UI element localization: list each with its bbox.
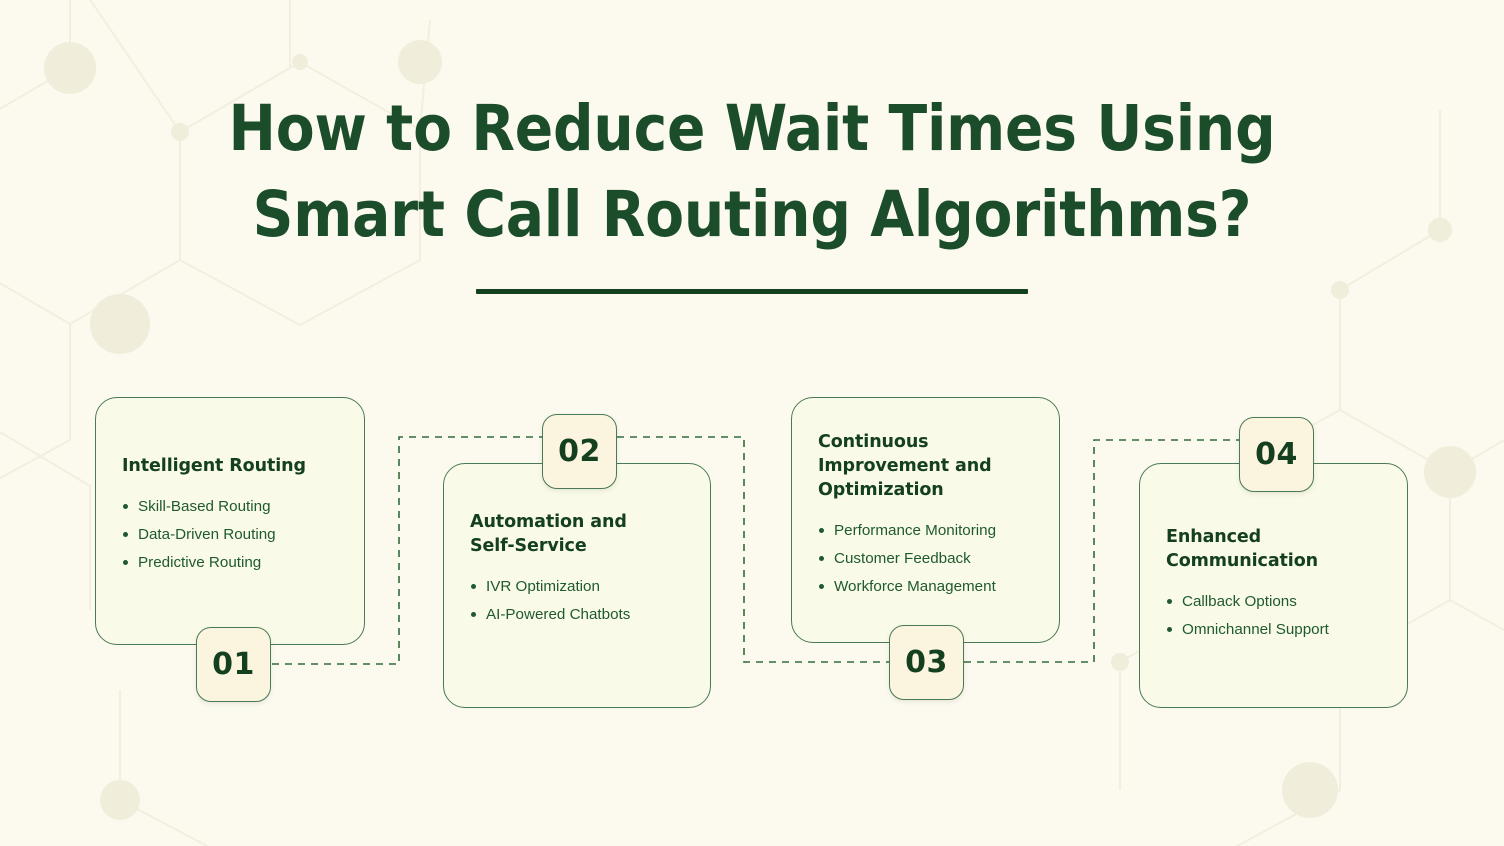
step-badge-4[interactable]: 04 bbox=[1239, 417, 1314, 492]
list-item-label: AI-Powered Chatbots bbox=[486, 606, 630, 623]
list-item-label: IVR Optimization bbox=[486, 578, 600, 595]
bullet-dot-icon bbox=[471, 584, 476, 589]
list-item-label: Callback Options bbox=[1182, 593, 1297, 610]
step-badge-3-number: 03 bbox=[905, 648, 948, 678]
list-item: Callback Options bbox=[1166, 588, 1385, 616]
title-divider-rule bbox=[476, 289, 1028, 294]
list-item: Performance Monitoring bbox=[818, 517, 1037, 545]
step-badge-2-number: 02 bbox=[558, 437, 601, 467]
list-item: Customer Feedback bbox=[818, 545, 1037, 573]
bullet-dot-icon bbox=[1167, 627, 1172, 632]
step-card-2-list: IVR Optimization AI-Powered Chatbots bbox=[470, 573, 688, 629]
list-item-label: Skill-Based Routing bbox=[138, 498, 271, 515]
list-item-label: Predictive Routing bbox=[138, 554, 261, 571]
list-item: Data-Driven Routing bbox=[122, 521, 342, 549]
list-item: Skill-Based Routing bbox=[122, 493, 342, 521]
list-item-label: Workforce Management bbox=[834, 578, 996, 595]
list-item: Omnichannel Support bbox=[1166, 616, 1385, 644]
list-item: AI-Powered Chatbots bbox=[470, 601, 688, 629]
infographic-canvas: How to Reduce Wait Times Using Smart Cal… bbox=[0, 0, 1504, 846]
bullet-dot-icon bbox=[819, 584, 824, 589]
step-card-1-list: Skill-Based Routing Data-Driven Routing … bbox=[122, 493, 342, 577]
step-card-1[interactable]: Intelligent Routing Skill-Based Routing … bbox=[95, 397, 365, 645]
page-title: How to Reduce Wait Times Using Smart Cal… bbox=[0, 86, 1504, 258]
step-card-4-list: Callback Options Omnichannel Support bbox=[1166, 588, 1385, 644]
list-item-label: Performance Monitoring bbox=[834, 522, 996, 539]
step-card-4[interactable]: Enhanced Communication Callback Options … bbox=[1139, 463, 1408, 708]
list-item: Workforce Management bbox=[818, 573, 1037, 601]
bullet-dot-icon bbox=[123, 532, 128, 537]
list-item-label: Omnichannel Support bbox=[1182, 621, 1329, 638]
step-badge-1[interactable]: 01 bbox=[196, 627, 271, 702]
bullet-dot-icon bbox=[819, 556, 824, 561]
page-title-line-1: How to Reduce Wait Times Using bbox=[0, 86, 1504, 172]
page-title-line-2: Smart Call Routing Algorithms? bbox=[0, 172, 1504, 258]
list-item: Predictive Routing bbox=[122, 549, 342, 577]
step-card-3-title: Continuous Improvement and Optimization bbox=[818, 430, 1037, 502]
step-badge-4-number: 04 bbox=[1255, 440, 1298, 470]
step-badge-3[interactable]: 03 bbox=[889, 625, 964, 700]
step-card-1-title: Intelligent Routing bbox=[122, 454, 342, 478]
step-card-3-list: Performance Monitoring Customer Feedback… bbox=[818, 517, 1037, 601]
bullet-dot-icon bbox=[123, 504, 128, 509]
bullet-dot-icon bbox=[471, 612, 476, 617]
step-card-3[interactable]: Continuous Improvement and Optimization … bbox=[791, 397, 1060, 643]
step-badge-2[interactable]: 02 bbox=[542, 414, 617, 489]
list-item: IVR Optimization bbox=[470, 573, 688, 601]
step-card-2[interactable]: Automation and Self-Service IVR Optimiza… bbox=[443, 463, 711, 708]
list-item-label: Data-Driven Routing bbox=[138, 526, 276, 543]
bullet-dot-icon bbox=[819, 528, 824, 533]
step-card-2-title: Automation and Self-Service bbox=[470, 510, 688, 558]
bullet-dot-icon bbox=[123, 560, 128, 565]
step-badge-1-number: 01 bbox=[212, 650, 255, 680]
list-item-label: Customer Feedback bbox=[834, 550, 971, 567]
step-card-4-title: Enhanced Communication bbox=[1166, 525, 1385, 573]
bullet-dot-icon bbox=[1167, 599, 1172, 604]
